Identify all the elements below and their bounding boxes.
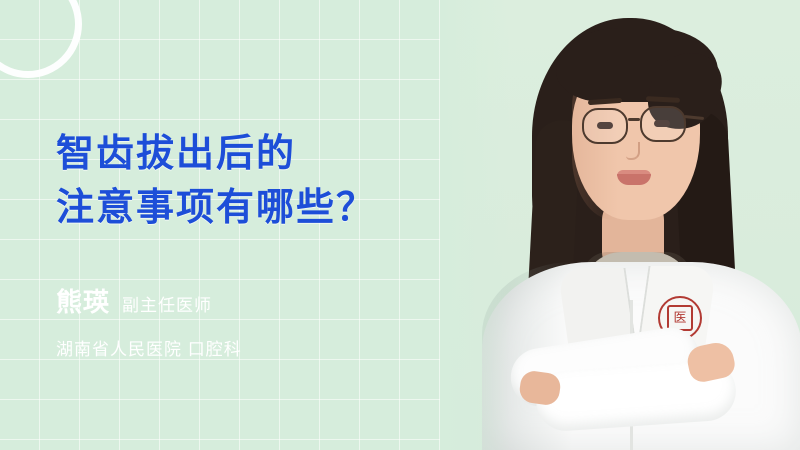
- glasses-lens-right: [640, 106, 686, 142]
- doctor-byline: 熊瑛 副主任医师 湖南省人民医院 口腔科: [56, 282, 486, 360]
- title-line-1: 智齿拔出后的: [56, 128, 486, 182]
- glasses-lens-left: [582, 108, 628, 144]
- doctor-name-row: 熊瑛 副主任医师: [56, 282, 486, 319]
- doctor-title: 副主任医师: [122, 291, 212, 316]
- doctor-name: 熊瑛: [56, 282, 110, 319]
- page-title: 智齿拔出后的 注意事项有哪些？: [56, 128, 486, 236]
- glasses-bridge: [628, 118, 640, 121]
- doctor-portrait: 医: [440, 0, 800, 450]
- poster-image: 医 智齿拔出后的 注意事项有哪些？ 熊瑛 副主任医师 湖南省人民医院 口腔科: [0, 0, 800, 450]
- nose: [626, 142, 640, 160]
- title-line-2: 注意事项有哪些？: [56, 182, 486, 236]
- doctor-affiliation: 湖南省人民医院 口腔科: [56, 335, 486, 360]
